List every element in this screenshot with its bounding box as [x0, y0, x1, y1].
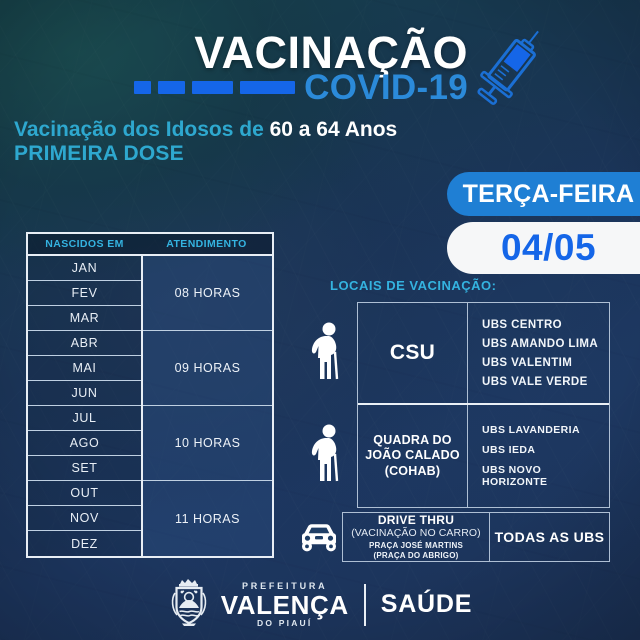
poster-subtitle-covid: COVID-19	[304, 70, 468, 105]
month-cell: ABR	[28, 331, 141, 356]
time-cell: 10 HORAS	[143, 406, 272, 481]
drive-thru-box: DRIVE THRU (VACINAÇÃO NO CARRO) PRAÇA JO…	[342, 512, 610, 562]
department-name: SAÚDE	[381, 590, 473, 619]
location-units-cell: UBS CENTRO UBS AMANDO LIMA UBS VALENTIM …	[468, 303, 609, 403]
weekday-label: TERÇA-FEIRA	[463, 180, 635, 209]
ubs-item: UBS NOVO HORIZONTE	[482, 464, 609, 488]
dash-segment	[134, 81, 151, 94]
city-name: VALENÇA	[221, 592, 349, 618]
elderly-person-with-cane-icon	[305, 424, 345, 487]
drive-thru-coverage: TODAS AS UBS	[495, 529, 605, 545]
month-cell: MAI	[28, 356, 141, 381]
ubs-item: UBS LAVANDERIA	[482, 424, 609, 436]
drive-thru-address: PRAÇA JOSÉ MARTINS (PRAÇA DO ABRIGO)	[369, 541, 463, 560]
month-cell: JAN	[28, 256, 141, 281]
dose-label: PRIMEIRA DOSE	[14, 142, 397, 166]
time-column: 08 HORAS 09 HORAS 10 HORAS 11 HORAS	[141, 256, 272, 556]
location-units-cell: UBS LAVANDERIA UBS IEDA UBS NOVO HORIZON…	[468, 405, 609, 507]
ubs-item: UBS VALE VERDE	[482, 376, 609, 388]
location-row: QUADRA DO JOÃO CALADO (COHAB) UBS LAVAND…	[358, 405, 609, 507]
month-cell: FEV	[28, 281, 141, 306]
column-header-birth-month: NASCIDOS EM	[28, 234, 141, 254]
month-cell: SET	[28, 456, 141, 481]
month-column: JAN FEV MAR ABR MAI JUN JUL AGO SET OUT …	[28, 256, 141, 556]
schedule-table-body: JAN FEV MAR ABR MAI JUN JUL AGO SET OUT …	[28, 256, 272, 556]
location-row: CSU UBS CENTRO UBS AMANDO LIMA UBS VALEN…	[358, 303, 609, 405]
month-cell: DEZ	[28, 531, 141, 556]
vaccination-campaign-poster: VACINAÇÃO COVID-19	[0, 0, 640, 640]
syringe-icon	[474, 20, 548, 117]
target-age-range: 60 a 64 Anos	[270, 118, 398, 141]
car-icon	[296, 518, 342, 559]
footer-branding: PREFEITURA VALENÇA DO PIAUÍ SAÚDE	[0, 577, 640, 632]
state-label: DO PIAUÍ	[257, 619, 312, 628]
dash-segment	[240, 81, 295, 94]
weekday-pill: TERÇA-FEIRA	[447, 172, 640, 216]
ubs-item: UBS VALENTIM	[482, 357, 609, 369]
location-place-name: QUADRA DO JOÃO CALADO (COHAB)	[365, 433, 460, 479]
poster-header: VACINAÇÃO COVID-19	[0, 14, 640, 100]
ubs-item: UBS AMANDO LIMA	[482, 338, 609, 350]
month-cell: JUN	[28, 381, 141, 406]
ubs-item: UBS CENTRO	[482, 319, 609, 331]
time-cell: 11 HORAS	[143, 481, 272, 556]
dash-segment	[192, 81, 233, 94]
time-cell: 09 HORAS	[143, 331, 272, 406]
drive-thru-info: DRIVE THRU (VACINAÇÃO NO CARRO) PRAÇA JO…	[343, 513, 490, 561]
elderly-person-with-cane-icon	[305, 322, 345, 385]
month-cell: AGO	[28, 431, 141, 456]
locations-grid: CSU UBS CENTRO UBS AMANDO LIMA UBS VALEN…	[357, 302, 610, 508]
date-pill: 04/05	[447, 222, 640, 274]
campaign-subtitle: Vacinação dos Idosos de 60 a 64 Anos PRI…	[14, 118, 397, 165]
month-cell: JUL	[28, 406, 141, 431]
target-group-line: Vacinação dos Idosos de 60 a 64 Anos	[14, 118, 397, 142]
month-cell: MAR	[28, 306, 141, 331]
schedule-table: NASCIDOS EM ATENDIMENTO JAN FEV MAR ABR …	[26, 232, 274, 558]
drive-thru-title: DRIVE THRU	[378, 513, 454, 527]
month-cell: OUT	[28, 481, 141, 506]
target-group-prefix: Vacinação dos Idosos de	[14, 118, 270, 141]
ubs-item: UBS IEDA	[482, 444, 609, 456]
drive-thru-coverage-cell: TODAS AS UBS	[490, 513, 609, 561]
month-cell: NOV	[28, 506, 141, 531]
schedule-table-header: NASCIDOS EM ATENDIMENTO	[28, 234, 272, 256]
city-brand-text: PREFEITURA VALENÇA DO PIAUÍ	[221, 582, 349, 628]
column-header-attendance: ATENDIMENTO	[141, 234, 272, 254]
dash-decoration	[134, 81, 295, 94]
location-place-cell: CSU	[358, 303, 468, 403]
date-label: 04/05	[501, 227, 596, 269]
locations-heading: LOCAIS DE VACINAÇÃO:	[330, 278, 496, 293]
covid-title-row: COVID-19	[134, 70, 468, 105]
brand-divider	[364, 584, 366, 626]
location-place-name: CSU	[390, 341, 435, 365]
dash-segment	[158, 81, 185, 94]
drive-thru-note: (VACINAÇÃO NO CARRO)	[351, 527, 481, 539]
location-place-cell: QUADRA DO JOÃO CALADO (COHAB)	[358, 405, 468, 507]
date-badge: TERÇA-FEIRA 04/05	[447, 172, 640, 274]
city-coat-of-arms-icon	[168, 577, 212, 632]
time-cell: 08 HORAS	[143, 256, 272, 331]
